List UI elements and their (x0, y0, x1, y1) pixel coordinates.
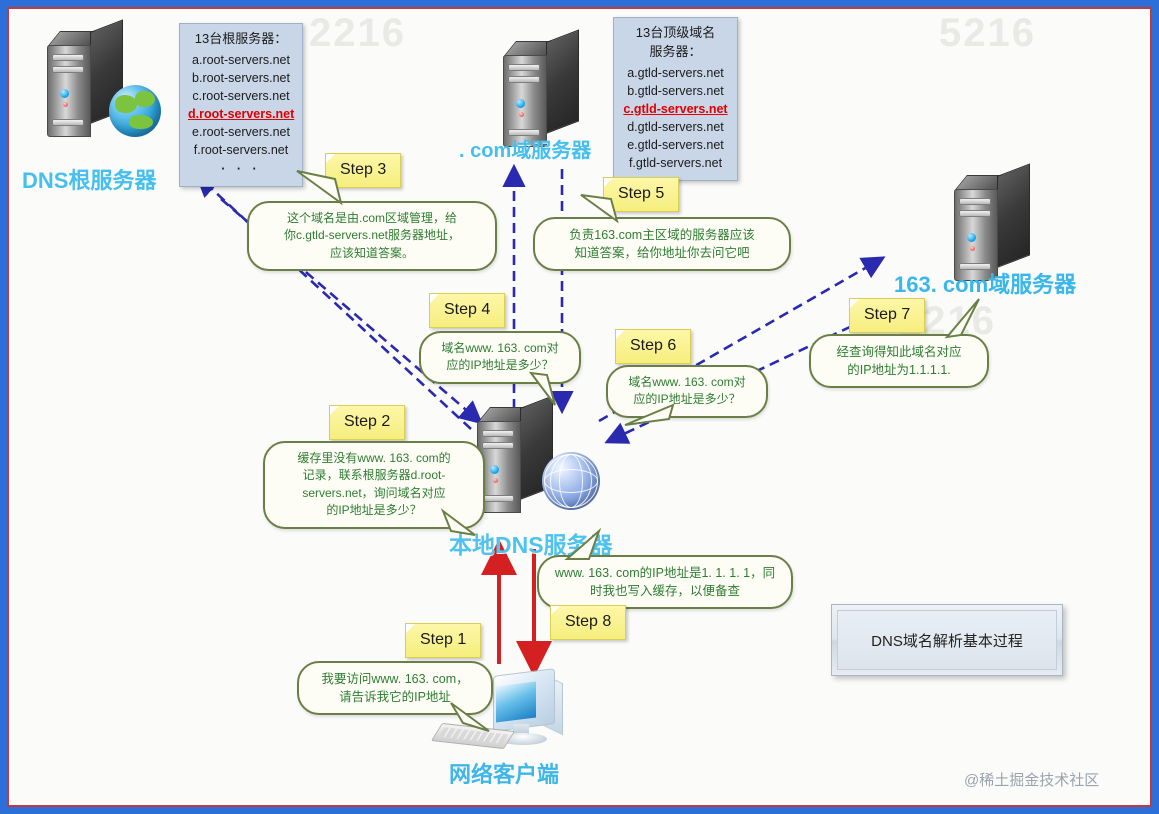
tld-list-item: f.gtld-servers.net (622, 154, 729, 172)
bubble-line: 域名www. 163. com对 (433, 340, 567, 357)
client-label: 网络客户端 (449, 757, 559, 789)
tld-list-item: d.gtld-servers.net (622, 118, 729, 136)
tld-list-item: b.gtld-servers.net (622, 82, 729, 100)
bubble-line: 时我也写入缓存，以便备查 (551, 582, 779, 600)
step-3-bubble: 这个域名是由.com区域管理，给 你c.gtld-servers.net服务器地… (247, 201, 497, 271)
root-list-item: c.root-servers.net (188, 87, 294, 105)
step-1-tag: Step 1 (405, 623, 481, 658)
bubble-line: servers.net，询问域名对应 (277, 485, 471, 502)
step-6-bubble-tail (623, 403, 683, 433)
root-list-ellipsis: · · · (188, 160, 294, 178)
step-7-tag: Step 7 (849, 298, 925, 333)
bubble-line: www. 163. com的IP地址是1. 1. 1. 1，同 (551, 564, 779, 582)
s163-server-label: 163. com域服务器 (894, 267, 1076, 299)
root-list-item: a.root-servers.net (188, 51, 294, 69)
step-8-bubble-tail (565, 529, 615, 565)
step-5-bubble-tail (577, 191, 629, 233)
step-4-tag: Step 4 (429, 293, 505, 328)
diagram-canvas: 2216 5216 2216 (0, 0, 1159, 814)
tld-list-item: a.gtld-servers.net (622, 64, 729, 82)
root-globe-icon (109, 85, 161, 137)
root-list-item: b.root-servers.net (188, 69, 294, 87)
root-server-label: DNS根服务器 (22, 163, 156, 195)
com-server-label: . com域服务器 (459, 134, 591, 163)
diagram-content: 2216 5216 2216 (9, 9, 1150, 805)
root-list-item: f.root-servers.net (188, 141, 294, 159)
step-2-tag: Step 2 (329, 405, 405, 440)
legend-plate: DNS域名解析基本过程 (831, 604, 1063, 676)
step-5-bubble: 负责163.com主区域的服务器应该 知道答案，给你地址你去问它吧 (533, 217, 791, 271)
bubble-line: 记录，联系根服务器d.root- (277, 467, 471, 484)
step-6-tag: Step 6 (615, 329, 691, 364)
step-7-bubble-tail (945, 297, 991, 343)
bubble-line: 缓存里没有www. 163. com的 (277, 450, 471, 467)
tld-list-title: 13台顶级域名 服务器： (622, 24, 729, 62)
step-1-bubble-tail (449, 701, 499, 737)
bubble-line: 的IP地址为1.1.1.1. (823, 361, 975, 379)
bubble-line: 应该知道答案。 (261, 245, 483, 262)
step-8-tag: Step 8 (550, 605, 626, 640)
tld-list-item-highlighted: c.gtld-servers.net (622, 100, 729, 118)
tld-server-list: 13台顶级域名 服务器： a.gtld-servers.net b.gtld-s… (613, 17, 738, 181)
legend-plate-inner: DNS域名解析基本过程 (837, 610, 1057, 670)
community-credit: @稀土掘金技术社区 (964, 769, 1099, 790)
root-server-list: 13台根服务器： a.root-servers.net b.root-serve… (179, 23, 303, 187)
step-2-bubble-tail (441, 509, 485, 543)
step-4-bubble-tail (529, 371, 569, 413)
bubble-line: 域名www. 163. com对 (620, 374, 754, 391)
tld-list-item: e.gtld-servers.net (622, 136, 729, 154)
step-3-bubble-tail (295, 169, 355, 215)
bubble-line: 你c.gtld-servers.net服务器地址， (261, 227, 483, 244)
root-list-title: 13台根服务器： (188, 30, 294, 49)
legend-title: DNS域名解析基本过程 (871, 630, 1023, 651)
bubble-line: 知道答案，给你地址你去问它吧 (547, 244, 777, 262)
root-list-item: e.root-servers.net (188, 123, 294, 141)
root-list-item-highlighted: d.root-servers.net (188, 105, 294, 123)
bubble-line: 经查询得知此域名对应 (823, 343, 975, 361)
local-dns-globe-icon (542, 452, 600, 510)
bubble-line: 我要访问www. 163. com， (311, 670, 479, 688)
